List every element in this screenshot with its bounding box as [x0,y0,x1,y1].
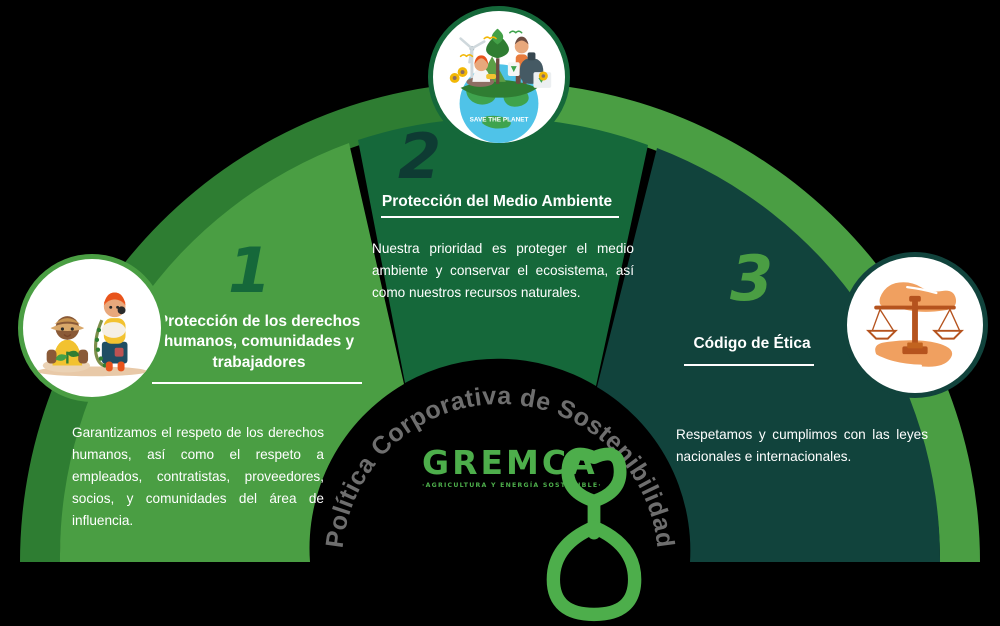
segment-2-title: Protección del Medio Ambiente [368,192,626,212]
scales-of-justice-in-hands-icon [847,257,983,393]
segment-2-number: 2 [398,126,439,188]
segment-3-icon-badge[interactable] [842,252,988,398]
segment-2-body: Nuestra prioridad es proteger el medio a… [372,238,634,304]
segment-1-title: Protección de los derechos humanos, comu… [150,312,368,373]
gremca-knot-leaf-logo-icon [422,446,766,626]
farm-workers-icon [23,259,161,397]
svg-text:SAVE THE PLANET: SAVE THE PLANET [470,116,529,123]
segment-2-divider [381,216,619,218]
segment-3-number: 3 [730,248,771,310]
infographic-canvas: Política Corporativa de Sostenibilidad 1… [0,0,1000,562]
segment-3-divider [684,364,814,366]
segment-1-divider [152,382,362,384]
save-the-planet-icon: SAVE THE PLANET [433,11,565,143]
segment-1-number: 1 [228,240,269,302]
segment-2-icon-badge[interactable]: SAVE THE PLANET [428,6,570,148]
segment-1-body: Garantizamos el respeto de los derechos … [72,422,324,532]
segment-1-icon-badge[interactable] [18,254,166,402]
center-hub: GREMCA ·AGRICULTURA Y ENERGÍA SOSTENIBLE… [330,388,674,568]
segment-3-title: Código de Ética [662,334,842,354]
brand-logo[interactable]: GREMCA ·AGRICULTURA Y ENERGÍA SOSTENIBLE… [422,446,582,489]
